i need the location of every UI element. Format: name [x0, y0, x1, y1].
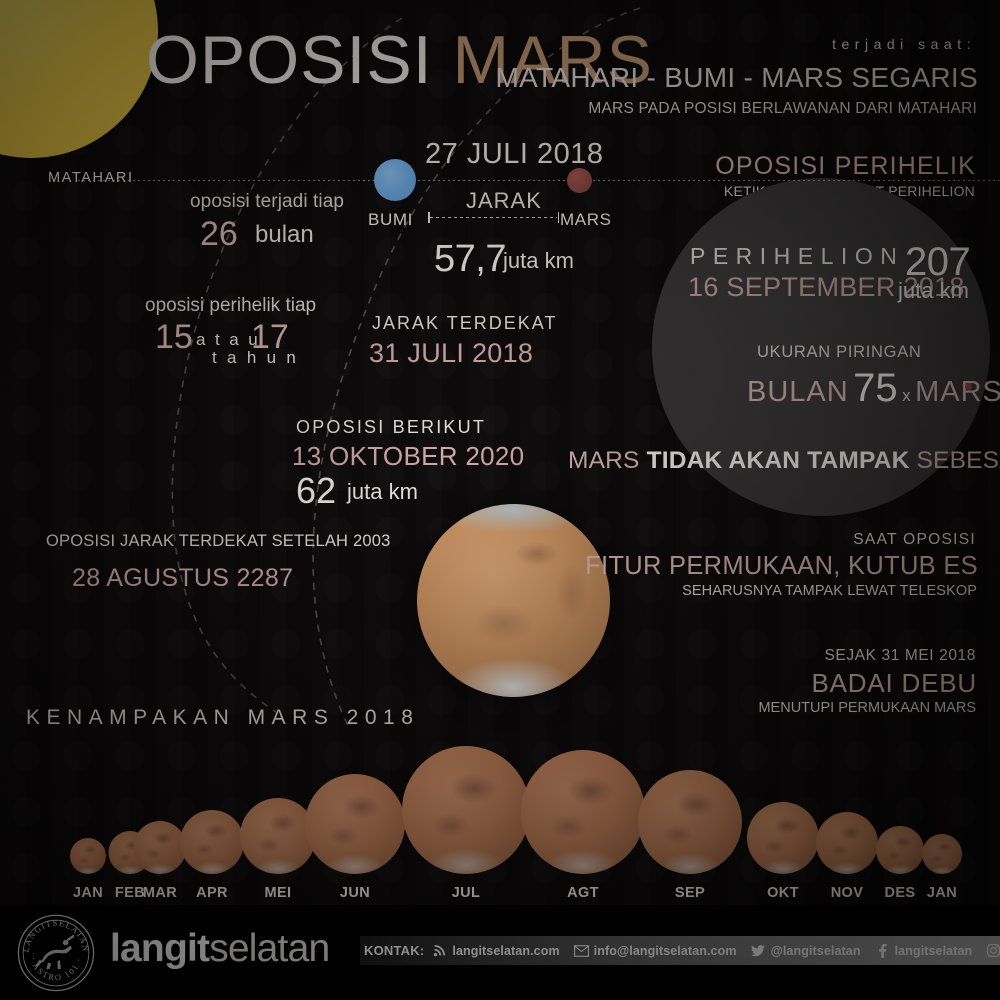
oposisi-berikut-date: 13 OKTOBER 2020 [292, 441, 524, 472]
perihelion-word: PERIHELION [690, 243, 904, 270]
month-label: JAN [73, 885, 103, 901]
terdekat-2003-label: OPOSISI JARAK TERDEKAT SETELAH 2003 [46, 532, 390, 551]
sun-disc [0, 0, 158, 158]
instagram-icon [986, 943, 1000, 958]
contact-text: @langitselatan [771, 944, 861, 958]
mars-disc-mar-2 [134, 821, 187, 874]
facebook-icon [875, 943, 890, 958]
jarak-value: 57,7 [434, 238, 506, 281]
bulan-word: BULAN [747, 376, 849, 408]
mars-disc-agt-7 [521, 750, 645, 874]
distance-dimension-line [424, 212, 563, 224]
contact-item[interactable]: langitselatan [875, 943, 973, 958]
not-as-big-part-2: TIDAK AKAN TAMPAK [647, 447, 910, 474]
month-label: AGT [567, 885, 599, 901]
jarak-terdekat-label: JARAK TERDEKAT [372, 313, 557, 334]
ukuran-piringan-row: BULAN 75 x MARS [747, 366, 1000, 411]
opposition-date: 27 JULI 2018 [425, 138, 604, 171]
month-label: JAN [927, 885, 957, 901]
brand-part-langit: langit [110, 927, 209, 970]
contact-item[interactable]: langitselatan.com [432, 943, 559, 958]
ukuran-piringan-label: UKURAN PIRINGAN [757, 343, 922, 362]
month-label: JUN [340, 885, 370, 901]
oposisi-tiap-number: 26 [200, 215, 238, 254]
badai-sejak-label: SEJAK 31 MEI 2018 [824, 647, 976, 665]
envelope-icon [574, 943, 589, 958]
contact-item[interactable]: @langitselatan [751, 943, 861, 958]
kenampakan-heading: KENAMPAKAN MARS 2018 [26, 706, 419, 730]
oposisi-berikut-label: OPOSISI BERIKUT [296, 417, 486, 438]
not-as-big-as-moon: MARS TIDAK AKAN TAMPAK SEBESAR BULAN [568, 447, 1000, 475]
contact-text: langitselatan [895, 944, 973, 958]
contact-item[interactable]: info@langitselatan.com [574, 943, 737, 958]
month-label: DES [884, 885, 915, 901]
perihelik-number-15: 15 [155, 318, 193, 357]
mars-size-timeline: JANFEBMARAPRMEIJUNJULAGTSEPOKTNOVDESJAN [0, 760, 1000, 900]
badai-debu-sub: MENUTUPI PERMUKAAN MARS [758, 700, 976, 716]
mars-disc-okt-9 [747, 802, 819, 874]
svg-text:· ASTRO 101 ·: · ASTRO 101 · [29, 956, 84, 982]
brand-wordmark: langitselatan [110, 929, 329, 968]
perihelik-unit: t a h u n [212, 348, 299, 368]
dimension-bar [430, 217, 557, 218]
opposition-axis-line [78, 180, 1000, 181]
title-part-oposisi: OPOSISI [146, 22, 433, 98]
earth-label: BUMI [368, 210, 413, 230]
month-label: SEP [675, 885, 705, 901]
mars-label: MARS [560, 210, 612, 230]
contact-text: info@langitselatan.com [594, 944, 737, 958]
mars-disc-small [567, 168, 592, 193]
langitselatan-logo-icon: LANGITSELATAN · ASTRO 101 · [16, 913, 96, 993]
month-label: MAR [143, 885, 177, 901]
month-label: OKT [767, 885, 799, 901]
mars-disc-jun-5 [305, 774, 405, 874]
mars-word: MARS [915, 376, 1000, 408]
mars-size-dot [965, 383, 972, 390]
terjadi-saat-label: terjadi saat: [832, 36, 976, 52]
fitur-permukaan: FITUR PERMUKAAN, KUTUB ES [585, 552, 978, 581]
mars-photo-main [417, 504, 610, 697]
month-label: MEI [265, 885, 292, 901]
month-label: APR [196, 885, 228, 901]
month-label: JUL [452, 885, 481, 901]
mars-disc-mei-4 [240, 798, 316, 874]
sun-label: MATAHARI [48, 170, 134, 186]
contact-item[interactable]: langitselatanmedia [986, 943, 1000, 958]
jarak-terdekat-date: 31 JULI 2018 [369, 338, 533, 369]
terdekat-2003-date: 28 AGUSTUS 2287 [72, 564, 293, 593]
mars-disc-jan-0 [70, 838, 106, 874]
twitter-icon [751, 943, 766, 958]
oposisi-berikut-unit: juta km [347, 479, 418, 505]
saat-oposisi-label: SAAT OPOSISI [853, 531, 976, 549]
jarak-label: JARAK [466, 188, 542, 214]
rss-icon [432, 943, 447, 958]
badai-debu-title: BADAI DEBU [812, 668, 978, 699]
mars-disc-jan-12 [922, 834, 962, 874]
mars-disc-apr-3 [180, 810, 244, 874]
mars-disc-jul-6 [402, 746, 530, 874]
oposisi-tiap-unit: bulan [255, 221, 314, 249]
month-label: FEB [115, 885, 145, 901]
mars-disc-sep-8 [638, 770, 742, 874]
mars-disc-nov-10 [816, 812, 878, 874]
contact-text: langitselatan.com [452, 944, 559, 958]
oposisi-berikut-value: 62 [296, 470, 336, 512]
alignment-subline: MARS PADA POSISI BERLAWANAN DARI MATAHAR… [588, 100, 977, 118]
perihelik-tiap-label: oposisi perihelik tiap [145, 295, 316, 317]
contact-bar: KONTAK: langitselatan.cominfo@langitsela… [360, 936, 1000, 965]
alignment-headline: MATAHARI - BUMI - MARS SEGARIS [496, 62, 978, 94]
times-symbol: x [902, 386, 911, 405]
kontak-label: KONTAK: [364, 943, 424, 958]
teleskop-note: SEHARUSNYA TAMPAK LEWAT TELESKOP [682, 583, 977, 599]
dimension-cap-right [558, 212, 560, 223]
jarak-unit: juta km [503, 248, 574, 274]
oposisi-tiap-label: oposisi terjadi tiap [190, 191, 344, 213]
not-as-big-part-1: MARS [568, 447, 647, 474]
brand-part-selatan: selatan [209, 927, 329, 970]
month-label: NOV [831, 885, 864, 901]
earth-disc [374, 159, 416, 201]
ratio-number: 75 [853, 366, 898, 410]
mars-disc-des-11 [876, 826, 924, 874]
perihelion-unit: juta km [898, 278, 969, 304]
oposisi-perihelik-title: OPOSISI PERIHELIK [715, 152, 976, 181]
not-as-big-part-3: SEBESAR BULAN [909, 447, 1000, 474]
